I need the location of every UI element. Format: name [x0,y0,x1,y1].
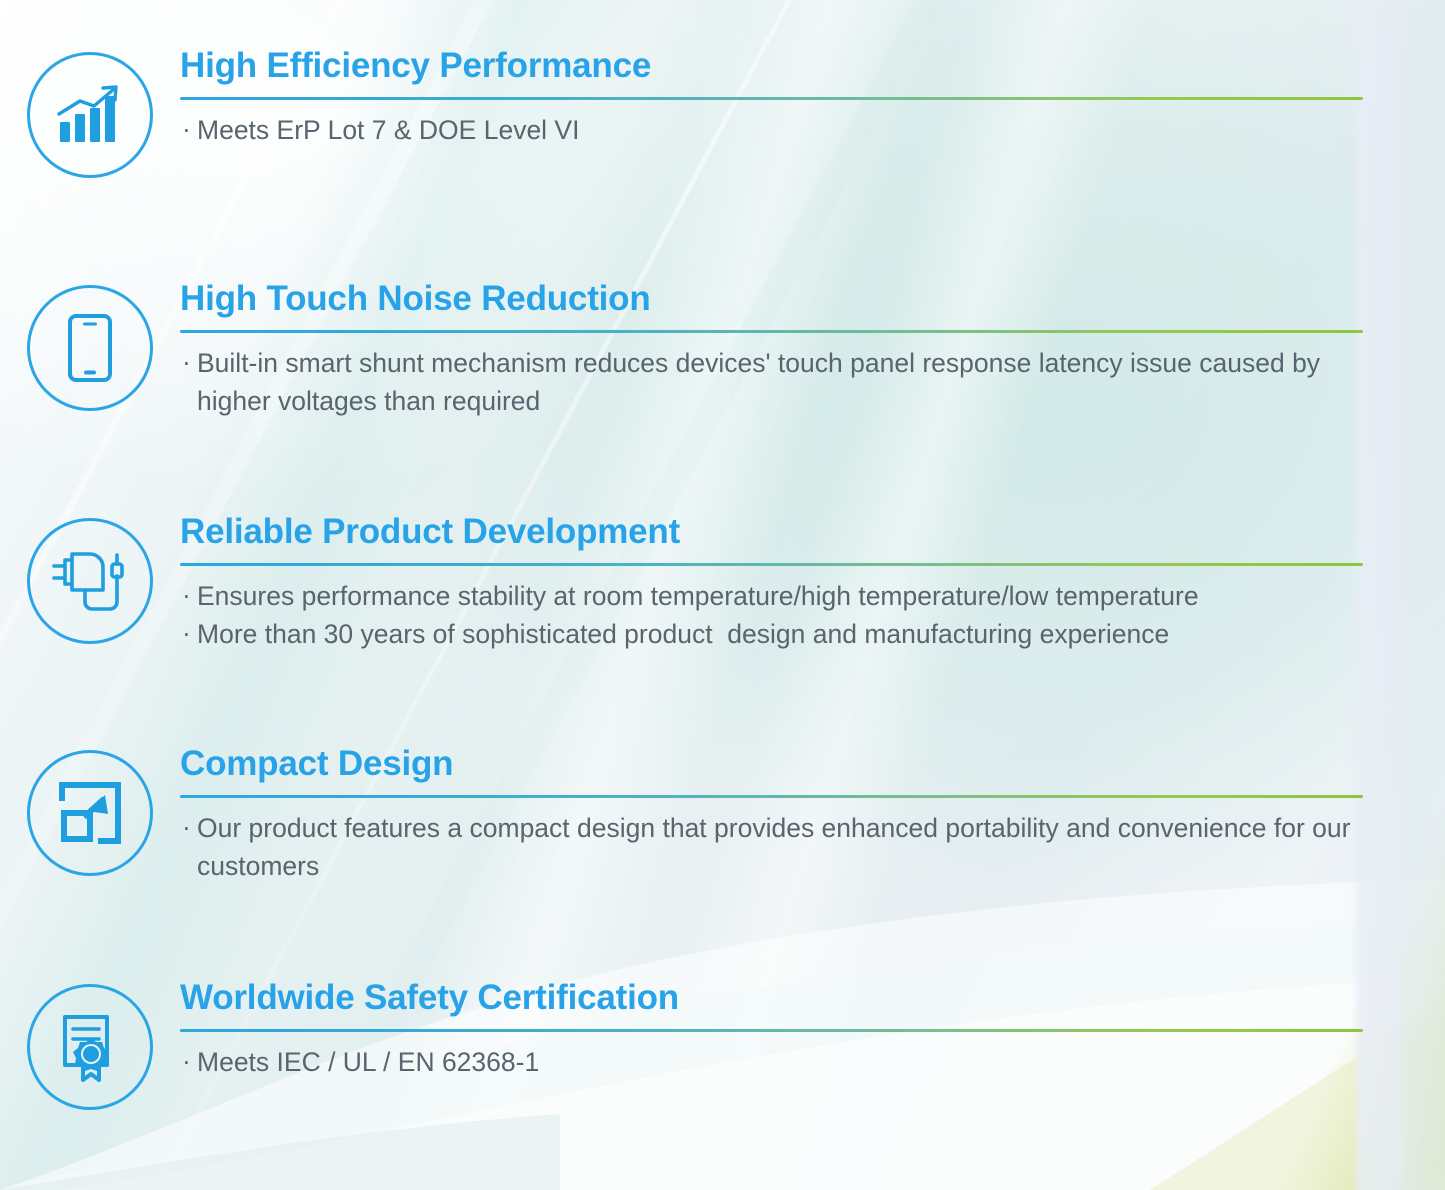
feature-divider [180,563,1363,566]
feature-bullet: More than 30 years of sophisticated prod… [180,615,1363,653]
icon-circle-border [27,285,153,411]
feature-text-block: Compact Design Our product features a co… [180,746,1445,886]
feature-item: Worldwide Safety Certification Meets IEC… [0,980,1445,1110]
power-adapter-icon [52,546,128,616]
feature-title: Worldwide Safety Certification [180,980,1363,1023]
feature-icon-wrapper [0,514,180,644]
compact-resize-icon [58,781,122,845]
feature-divider [180,330,1363,333]
feature-bullet-list: Ensures performance stability at room te… [180,577,1363,654]
feature-bullet-list: Meets ErP Lot 7 & DOE Level VI [180,111,1363,149]
feature-bullet-list: Built-in smart shunt mechanism reduces d… [180,344,1363,421]
feature-highlights-poster: High Efficiency Performance Meets ErP Lo… [0,0,1445,1190]
feature-item: Reliable Product Development Ensures per… [0,514,1445,654]
feature-divider [180,1029,1363,1032]
feature-bullet: Our product features a compact design th… [180,809,1363,886]
feature-divider [180,795,1363,798]
feature-item: High Touch Noise Reduction Built-in smar… [0,281,1445,421]
feature-icon-wrapper [0,48,180,178]
icon-circle-border [27,750,153,876]
feature-bullet: Built-in smart shunt mechanism reduces d… [180,344,1363,421]
bar-chart-growth-icon [56,84,124,146]
feature-item: High Efficiency Performance Meets ErP Lo… [0,48,1445,178]
icon-circle-border [27,518,153,644]
feature-icon-wrapper [0,980,180,1110]
feature-text-block: High Efficiency Performance Meets ErP Lo… [180,48,1445,149]
feature-bullet-list: Our product features a compact design th… [180,809,1363,886]
feature-title: Reliable Product Development [180,514,1363,557]
feature-bullet: Meets ErP Lot 7 & DOE Level VI [180,111,1363,149]
feature-bullet: Ensures performance stability at room te… [180,577,1363,615]
feature-bullet: Meets IEC / UL / EN 62368-1 [180,1043,1363,1081]
feature-bullet-list: Meets IEC / UL / EN 62368-1 [180,1043,1363,1081]
smartphone-icon [68,314,112,382]
feature-divider [180,97,1363,100]
feature-icon-wrapper [0,281,180,411]
icon-circle-border [27,52,153,178]
feature-item: Compact Design Our product features a co… [0,746,1445,886]
certificate-award-icon [57,1012,123,1082]
feature-text-block: Worldwide Safety Certification Meets IEC… [180,980,1445,1081]
feature-title: Compact Design [180,746,1363,789]
feature-title: High Touch Noise Reduction [180,281,1363,324]
feature-title: High Efficiency Performance [180,48,1363,91]
feature-icon-wrapper [0,746,180,876]
feature-text-block: Reliable Product Development Ensures per… [180,514,1445,654]
icon-circle-border [27,984,153,1110]
feature-text-block: High Touch Noise Reduction Built-in smar… [180,281,1445,421]
